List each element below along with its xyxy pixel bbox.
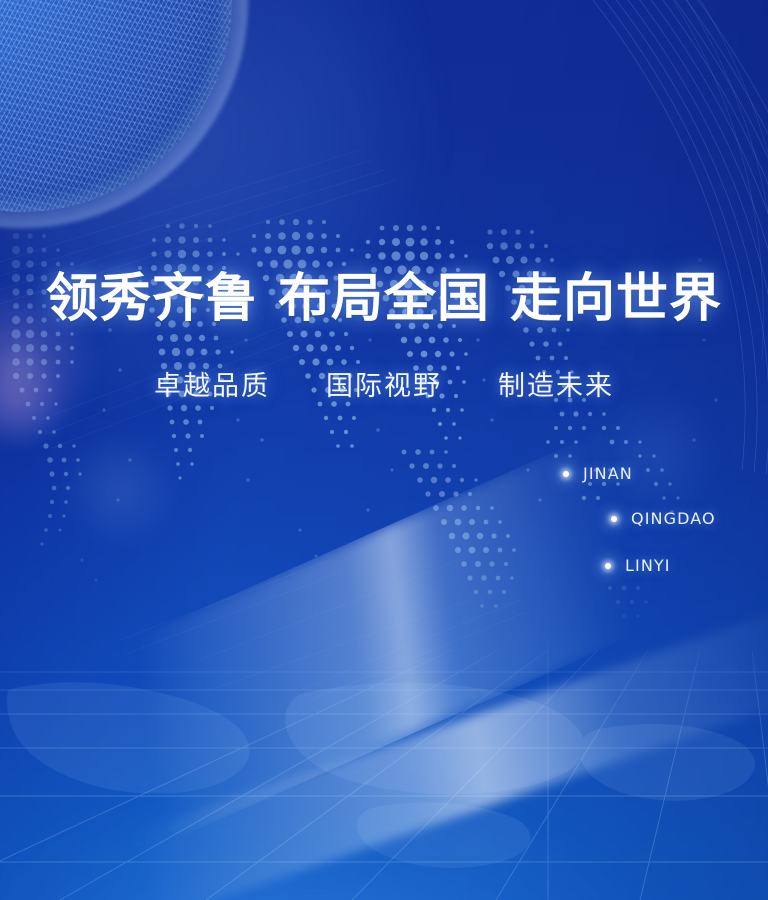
city-dot-icon (605, 563, 611, 569)
headline-segment-1: 领秀齐鲁 (46, 268, 258, 330)
city-dot-icon (611, 516, 617, 522)
subheadline-segment-3: 制造未来 (498, 369, 614, 405)
subheadline-segment-1: 卓越品质 (154, 369, 270, 405)
city-marker-linyi[interactable]: LINYI (605, 556, 671, 575)
city-label-jinan: JINAN (583, 464, 633, 483)
city-dot-icon (563, 471, 569, 477)
city-label-qingdao: QINGDAO (631, 509, 716, 528)
hero-banner: 领秀齐鲁布局全国走向世界 卓越品质国际视野制造未来 JINAN QINGDAO … (0, 0, 768, 900)
city-label-linyi: LINYI (625, 556, 671, 575)
subheadline-segment-2: 国际视野 (326, 369, 442, 405)
headline-segment-2: 布局全国 (278, 268, 490, 330)
city-marker-qingdao[interactable]: QINGDAO (611, 509, 716, 528)
banner-content: 领秀齐鲁布局全国走向世界 卓越品质国际视野制造未来 JINAN QINGDAO … (0, 0, 768, 900)
city-marker-jinan[interactable]: JINAN (563, 464, 633, 483)
headline: 领秀齐鲁布局全国走向世界 (0, 268, 768, 330)
headline-segment-3: 走向世界 (510, 268, 722, 330)
subheadline: 卓越品质国际视野制造未来 (0, 369, 768, 405)
